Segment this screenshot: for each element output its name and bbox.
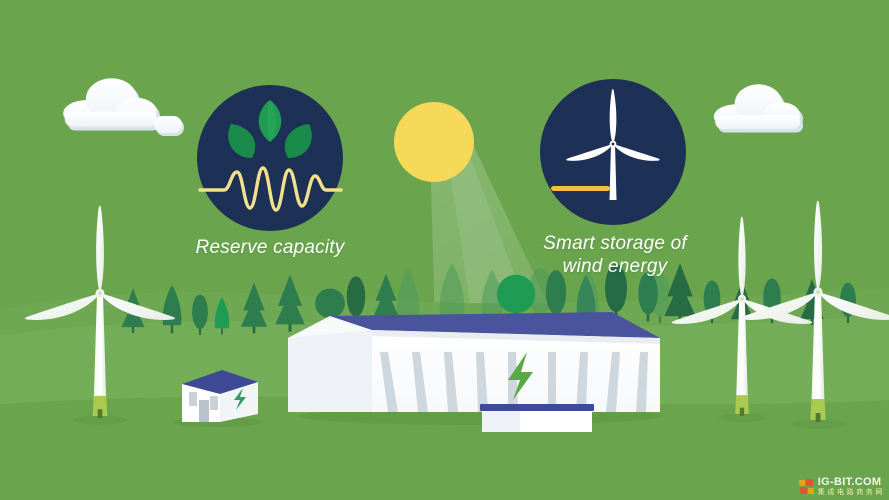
- battery-storage-warehouse[interactable]: [288, 312, 660, 432]
- scene-svg: [0, 0, 889, 500]
- watermark-text: IG-BIT.COM 集成电路商务网: [818, 477, 885, 496]
- reserve-capacity-badge[interactable]: [197, 85, 343, 231]
- house-window: [210, 396, 218, 410]
- watermark-logo-icon: [799, 479, 815, 495]
- illustration-canvas: Reserve capacity Smart storage of wind e…: [0, 0, 889, 500]
- watermark-subtitle: 集成电路商务网: [818, 489, 885, 496]
- watermark-title: IG-BIT.COM: [818, 477, 885, 488]
- house-window: [189, 392, 197, 406]
- house-door: [199, 400, 209, 422]
- level-line-icon: [551, 186, 610, 191]
- cloud-small-icon-left: [154, 116, 184, 136]
- warehouse-annex: [480, 404, 594, 432]
- smart-storage-badge[interactable]: [540, 79, 686, 225]
- sun-icon: [394, 102, 474, 182]
- ig-bit-watermark: IG-BIT.COM 集成电路商务网: [799, 477, 885, 496]
